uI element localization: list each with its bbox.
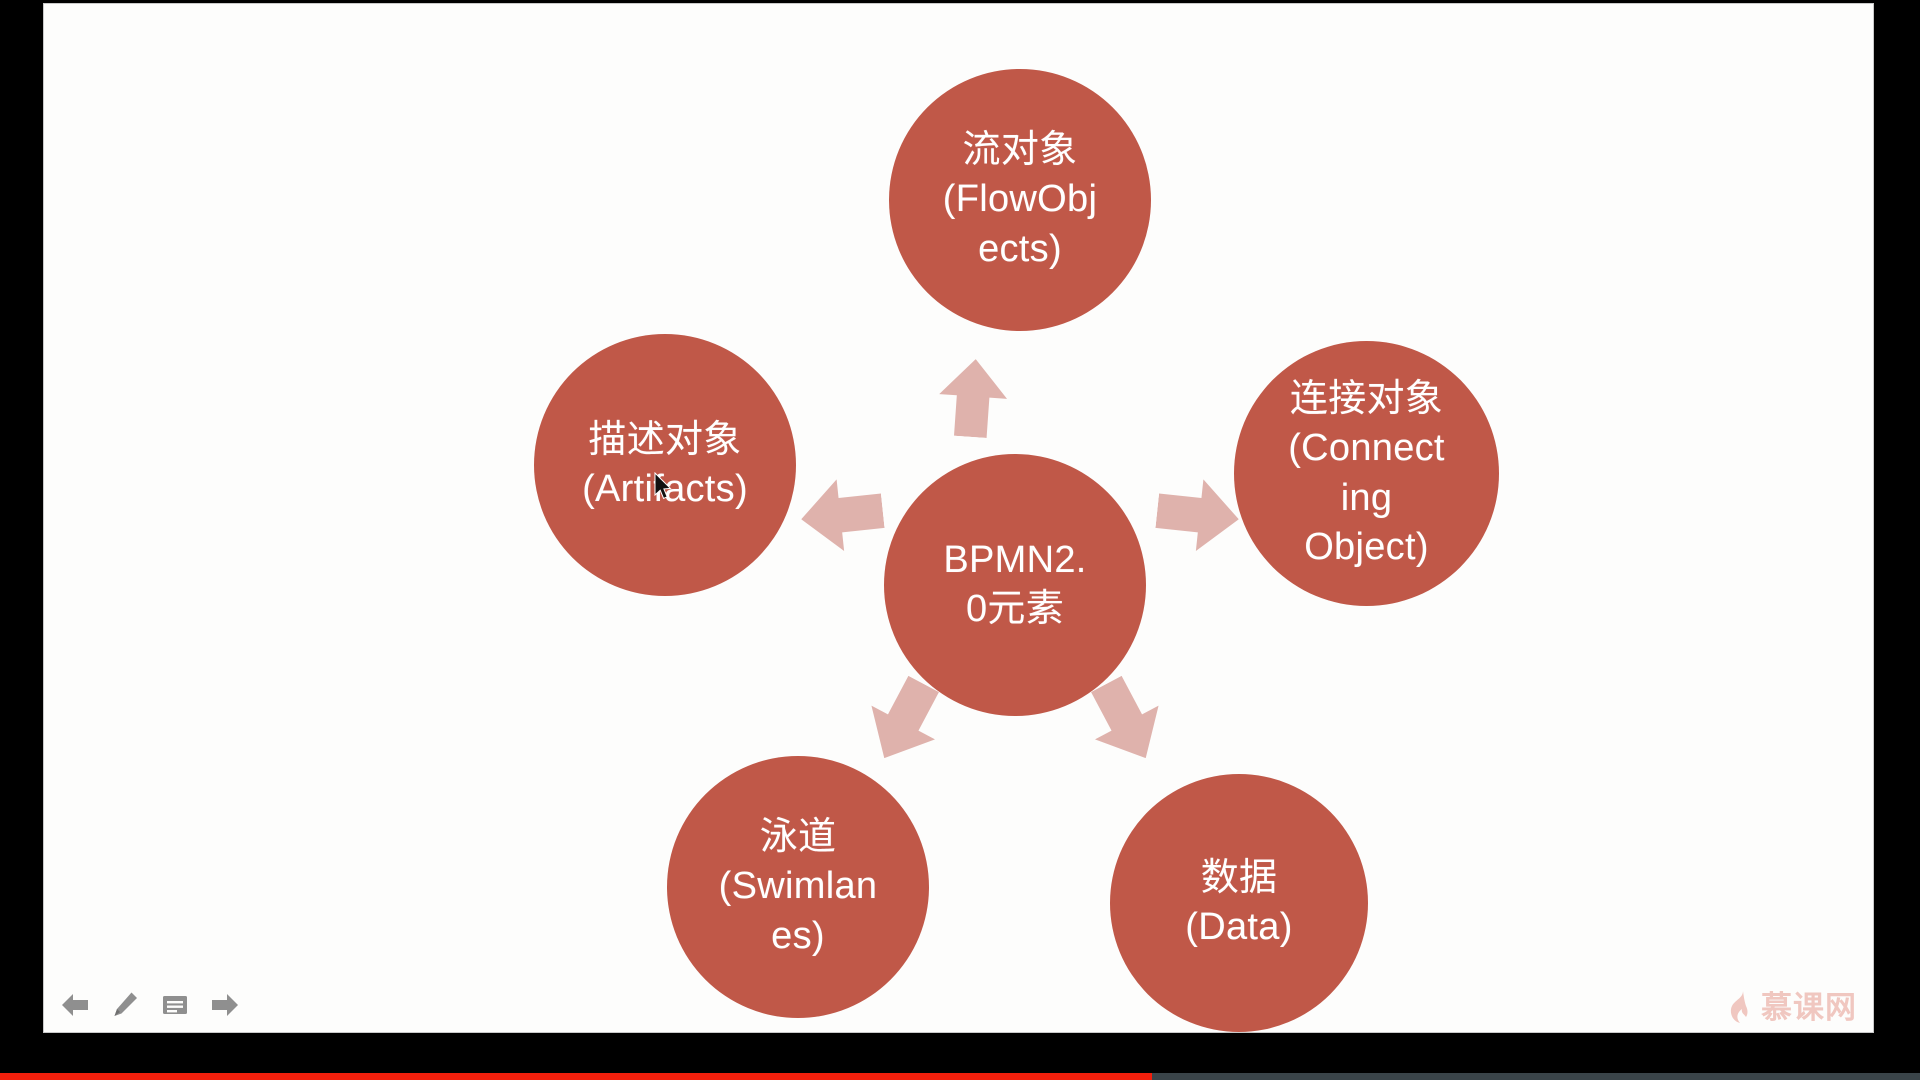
notes-icon[interactable] bbox=[158, 988, 192, 1022]
video-progress-fill bbox=[0, 1073, 1152, 1080]
node-label-line: 描述对象 bbox=[588, 416, 741, 465]
watermark: 慕课网 bbox=[1726, 990, 1857, 1024]
slide-toolbar bbox=[52, 984, 248, 1026]
diagram-node-connecting-object: 连接对象 (Connect ing Object) bbox=[1234, 341, 1499, 606]
node-label-line: 数据 bbox=[1201, 854, 1278, 903]
arrow-left-icon bbox=[797, 475, 886, 555]
node-label-line: (Data) bbox=[1185, 903, 1292, 952]
node-label-line: ects) bbox=[978, 225, 1062, 274]
node-label-line: 泳道 bbox=[760, 813, 837, 862]
previous-arrow-icon[interactable] bbox=[58, 988, 92, 1022]
node-label-line: BPMN2. bbox=[943, 536, 1086, 585]
node-label-line: ing bbox=[1341, 474, 1393, 523]
slide-canvas: 流对象 (FlowObj ects) 连接对象 (Connect ing Obj… bbox=[43, 3, 1874, 1033]
video-progress-bar[interactable] bbox=[0, 1073, 1920, 1080]
diagram-node-artifacts: 描述对象 (Artifacts) bbox=[534, 334, 796, 596]
flame-icon bbox=[1726, 990, 1754, 1024]
diagram-node-center: BPMN2. 0元素 bbox=[884, 454, 1146, 716]
node-label-line: (Swimlan bbox=[719, 862, 878, 911]
diagram-node-flow-objects: 流对象 (FlowObj ects) bbox=[889, 69, 1151, 331]
next-arrow-icon[interactable] bbox=[208, 988, 242, 1022]
arrow-up-icon bbox=[936, 357, 1009, 440]
node-label-line: (Artifacts) bbox=[582, 465, 748, 514]
arrow-right-icon bbox=[1153, 475, 1242, 555]
node-label-line: (Connect bbox=[1288, 424, 1445, 473]
watermark-text: 慕课网 bbox=[1761, 992, 1857, 1023]
node-label-line: 流对象 bbox=[963, 126, 1078, 175]
node-label-line: 0元素 bbox=[966, 585, 1064, 634]
pen-icon[interactable] bbox=[108, 988, 142, 1022]
diagram-node-swimlanes: 泳道 (Swimlan es) bbox=[667, 756, 929, 1018]
node-label-line: 连接对象 bbox=[1290, 375, 1443, 424]
video-player: 流对象 (FlowObj ects) 连接对象 (Connect ing Obj… bbox=[0, 0, 1920, 1080]
node-label-line: (FlowObj bbox=[943, 175, 1097, 224]
node-label-line: Object) bbox=[1304, 523, 1429, 572]
node-label-line: es) bbox=[771, 912, 825, 961]
diagram-node-data: 数据 (Data) bbox=[1110, 774, 1368, 1032]
